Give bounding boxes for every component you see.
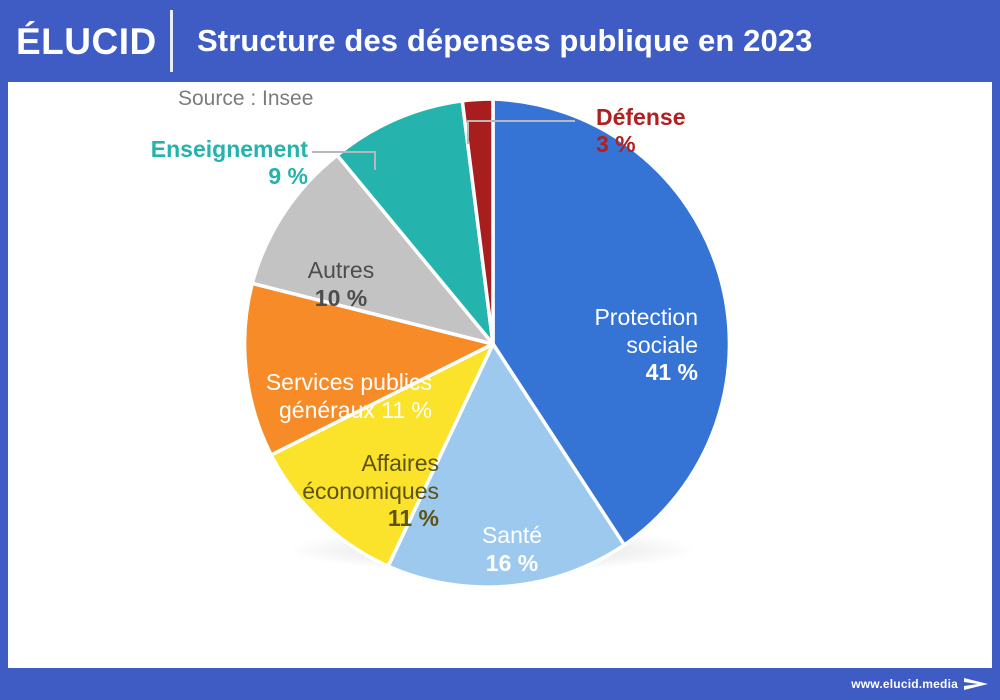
slice-label-autres-pct: 10 % (295, 285, 387, 313)
slice-label-protection-line1: Protection (594, 304, 698, 330)
slice-label-services-publics: Services publics généraux 11 % (242, 369, 432, 424)
footer-bar: www.elucid.media (0, 668, 1000, 700)
slice-label-sante-name: Santé (482, 522, 542, 548)
slice-label-enseignement-name: Enseignement (151, 136, 308, 162)
slice-label-services-line1: Services publics (266, 369, 432, 395)
elucid-logo: ÉLUCID (16, 23, 164, 60)
chart-canvas: Source : Insee (8, 82, 992, 668)
slice-label-sante-pct: 16 % (454, 550, 570, 578)
slice-label-enseignement: Enseignement 9 % (132, 136, 308, 190)
slice-label-affaires-line1: Affaires (361, 450, 439, 476)
slice-label-enseignement-pct: 9 % (132, 163, 308, 190)
header-bar: ÉLUCID Structure des dépenses publique e… (0, 0, 1000, 82)
slice-label-autres-name: Autres (308, 257, 374, 283)
page-title: Structure des dépenses publique en 2023 (197, 23, 812, 59)
slice-label-defense: Défense 3 % (596, 104, 685, 158)
play-triangle-icon (964, 676, 990, 692)
infographic-page: ÉLUCID Structure des dépenses publique e… (0, 0, 1000, 700)
slice-label-protection-line2: sociale (548, 332, 698, 360)
slice-label-protection-pct: 41 % (548, 359, 698, 387)
header-divider (170, 10, 173, 72)
slice-label-services-line2: généraux 11 % (242, 397, 432, 425)
slice-label-affaires-line2: économiques (289, 478, 439, 506)
slice-label-defense-name: Défense (596, 104, 685, 130)
slice-label-protection-sociale: Protection sociale 41 % (548, 304, 698, 387)
slice-label-defense-pct: 3 % (596, 131, 685, 158)
slice-label-autres: Autres 10 % (295, 257, 387, 312)
slice-label-sante: Santé 16 % (454, 522, 570, 577)
footer-url[interactable]: www.elucid.media (851, 677, 958, 691)
slice-label-affaires-economiques: Affaires économiques 11 % (289, 450, 439, 533)
slice-label-affaires-pct: 11 % (289, 505, 439, 533)
